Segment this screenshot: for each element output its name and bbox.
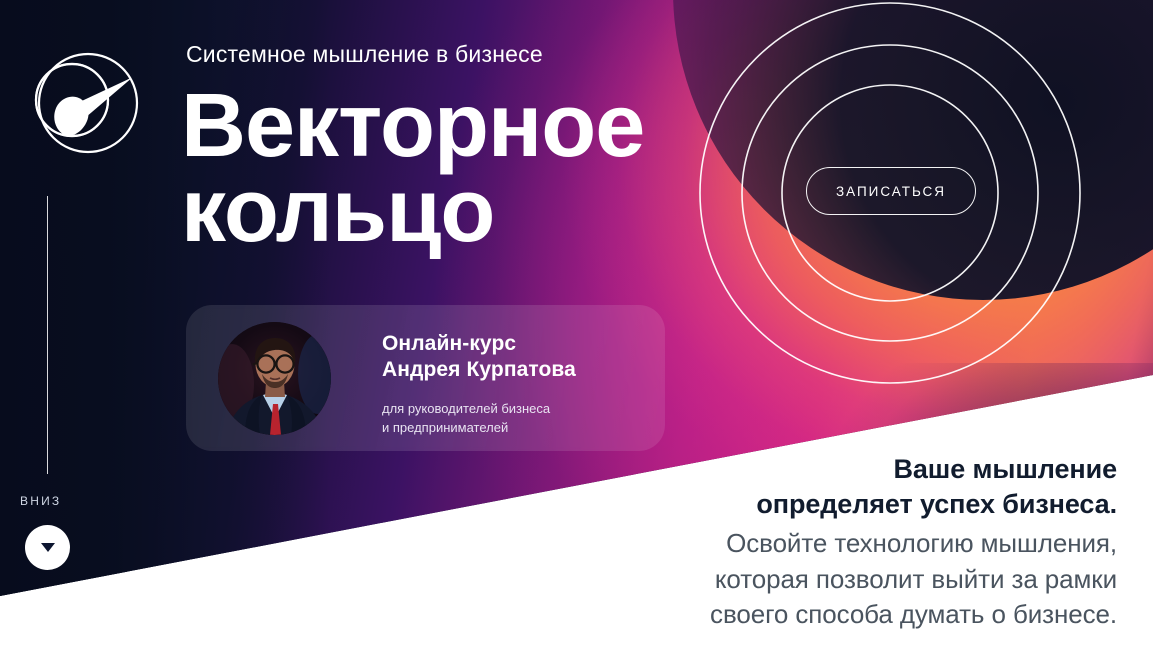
left-vertical-rule [47, 196, 48, 474]
course-heading-line-2: Андрея Курпатова [382, 357, 652, 383]
course-card[interactable]: Онлайн-курс Андрея Курпатова для руковод… [186, 305, 665, 451]
scroll-down-label: вниз [20, 494, 61, 508]
subcopy-bold: Ваше мышление определяет успех бизнеса. [497, 452, 1117, 522]
course-card-subtitle: для руководителей бизнеса и предпринимат… [382, 399, 652, 438]
hero-subcopy: Ваше мышление определяет успех бизнеса. … [497, 452, 1117, 632]
title-line-2: кольцо [181, 169, 644, 254]
page-title: Векторное кольцо [181, 84, 644, 253]
course-card-text: Онлайн-курс Андрея Курпатова для руковод… [382, 331, 652, 438]
subcopy-bold-line-2: определяет успех бизнеса. [497, 487, 1117, 522]
subcopy-reg-line-1: Освойте технологию мышления, [497, 526, 1117, 561]
scroll-down-button[interactable] [25, 525, 70, 570]
course-heading-line-1: Онлайн-курс [382, 331, 652, 357]
hero-eyebrow: Системное мышление в бизнесе [186, 41, 543, 68]
subcopy-reg-line-2: которая позволит выйти за рамки [497, 562, 1117, 597]
subcopy-bold-line-1: Ваше мышление [497, 452, 1117, 487]
signup-button[interactable]: ЗАПИСАТЬСЯ [806, 167, 976, 215]
subcopy-reg-line-3: своего способа думать о бизнесе. [497, 597, 1117, 632]
course-sub-line-1: для руководителей бизнеса [382, 399, 652, 419]
course-card-heading: Онлайн-курс Андрея Курпатова [382, 331, 652, 384]
subcopy-regular: Освойте технологию мышления, которая поз… [497, 526, 1117, 632]
vector-ring-logo-icon[interactable] [25, 43, 143, 161]
course-sub-line-2: и предпринимателей [382, 418, 652, 438]
avatar [218, 322, 331, 435]
title-line-1: Векторное [181, 84, 644, 169]
chevron-down-icon [41, 543, 55, 552]
